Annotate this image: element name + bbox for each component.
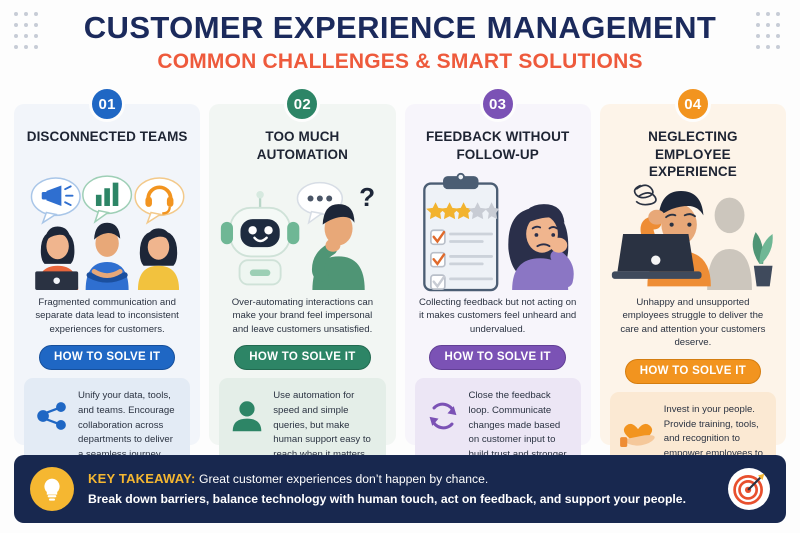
takeaway-label: KEY TAKEAWAY:	[88, 471, 196, 486]
target-dart-icon	[728, 468, 770, 510]
page-title: CUSTOMER EXPERIENCEMANAGEMENT	[0, 12, 800, 45]
page-subtitle: COMMON CHALLENGES & SMART SOLUTIONS	[0, 50, 800, 74]
card-number-badge: 02	[284, 86, 320, 122]
takeaway-line-2: Break down barriers, balance technology …	[88, 490, 714, 510]
takeaway-text: KEY TAKEAWAY: Great customer experiences…	[88, 469, 714, 509]
header: CUSTOMER EXPERIENCEMANAGEMENT COMMON CHA…	[0, 0, 800, 74]
decorative-dot-grid-left	[14, 12, 44, 56]
challenge-card-1[interactable]: 01 DISCONNECTED TEAMS	[14, 104, 200, 445]
challenge-card-4[interactable]: 04 NEGLECTING EMPLOYEE EXPERIENCE	[600, 104, 786, 445]
share-network-icon	[33, 397, 71, 435]
how-to-solve-button[interactable]: HOW TO SOLVE IT	[625, 359, 761, 384]
challenge-cards: 01 DISCONNECTED TEAMS	[14, 104, 786, 445]
three-colleagues-with-speech-bubbles-icon	[24, 168, 190, 293]
hand-holding-heart-icon	[619, 411, 657, 449]
card-title: FEEDBACK WITHOUT FOLLOW-UP	[415, 128, 581, 164]
infographic-page: CUSTOMER EXPERIENCEMANAGEMENT COMMON CHA…	[0, 0, 800, 533]
svg-text:?: ?	[359, 182, 375, 212]
card-description: Over-automating interactions can make yo…	[219, 296, 385, 337]
how-to-solve-button[interactable]: HOW TO SOLVE IT	[429, 345, 565, 370]
takeaway-line-1-text: Great customer experiences don’t happen …	[199, 472, 488, 486]
card-title: NEGLECTING EMPLOYEE EXPERIENCE	[610, 128, 776, 164]
takeaway-line-1: KEY TAKEAWAY: Great customer experiences…	[88, 469, 714, 490]
refresh-loop-icon	[424, 397, 462, 435]
card-description: Collecting feedback but not acting on it…	[415, 296, 581, 337]
user-person-icon	[228, 397, 266, 435]
card-title: TOO MUCH AUTOMATION	[219, 128, 385, 164]
feedback-clipboard-and-upset-woman-icon	[415, 168, 581, 293]
how-to-solve-button[interactable]: HOW TO SOLVE IT	[39, 345, 175, 370]
stressed-employee-at-laptop-icon	[610, 168, 776, 293]
card-number-badge: 03	[480, 86, 516, 122]
card-title: DISCONNECTED TEAMS	[27, 128, 188, 164]
how-to-solve-button[interactable]: HOW TO SOLVE IT	[234, 345, 370, 370]
chatbot-robot-and-confused-man-icon: ?	[219, 168, 385, 293]
page-title-part2: MANAGEMENT	[487, 10, 717, 45]
lightbulb-icon	[30, 467, 74, 511]
page-title-part1: CUSTOMER EXPERIENCE	[84, 10, 477, 45]
card-description: Unhappy and unsupported employees strugg…	[610, 296, 776, 350]
card-number-badge: 01	[89, 86, 125, 122]
challenge-card-2[interactable]: 02 TOO MUCH AUTOMATION	[209, 104, 395, 445]
card-number-badge: 04	[675, 86, 711, 122]
challenge-card-3[interactable]: 03 FEEDBACK WITHOUT FOLLOW-UP	[405, 104, 591, 445]
key-takeaway-banner: KEY TAKEAWAY: Great customer experiences…	[14, 455, 786, 523]
decorative-dot-grid-right	[756, 12, 786, 56]
solution-text: Unify your data, tools, and teams. Encou…	[78, 389, 180, 462]
card-description: Fragmented communication and separate da…	[24, 296, 190, 337]
